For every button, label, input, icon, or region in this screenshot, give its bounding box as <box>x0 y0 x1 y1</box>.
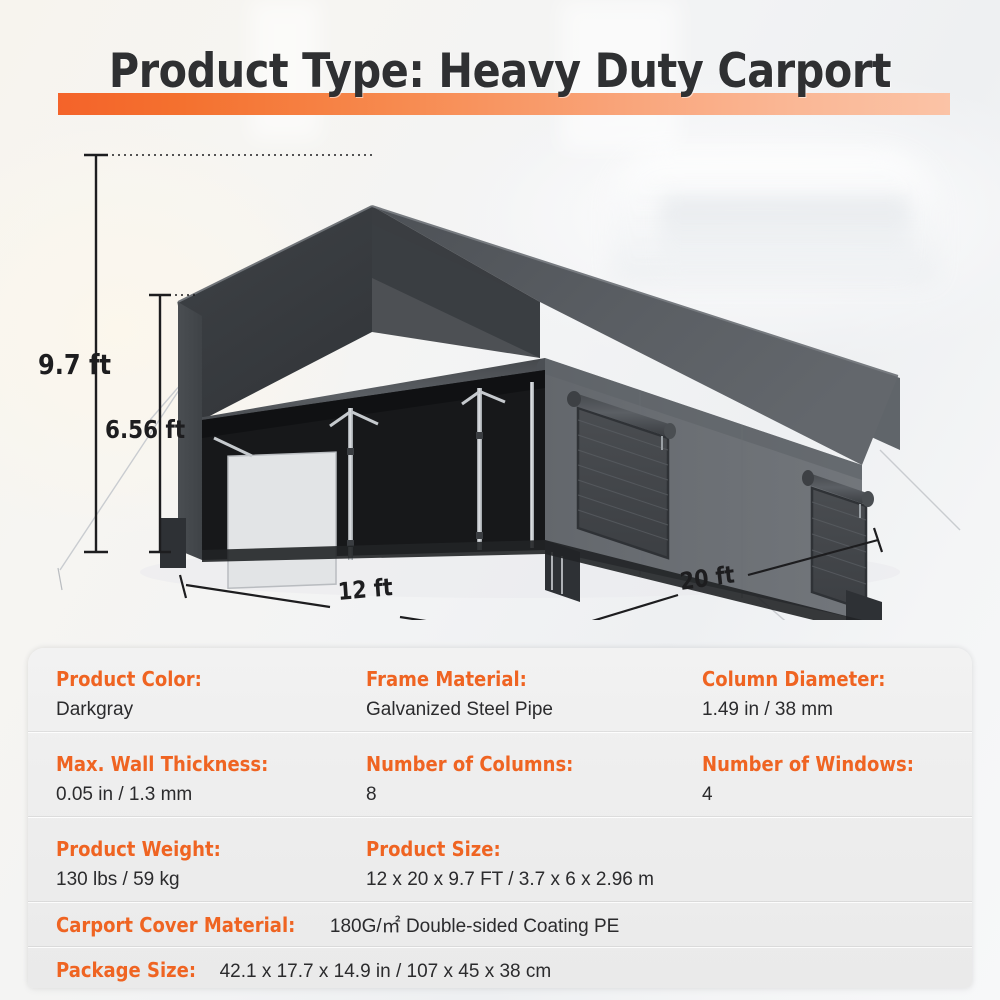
page-title: Product Type: Heavy Duty Carport <box>60 42 940 102</box>
spec-value: 180G/㎡ Double-sided Coating PE <box>330 915 619 939</box>
spec-cell-product-color: Product Color: Darkgray <box>56 648 218 722</box>
product-spec-image: Product Type: Heavy Duty Carport <box>0 0 1000 1000</box>
spec-value: 1.49 in / 38 mm <box>702 698 906 722</box>
spec-cell-number-of-windows: Number of Windows: 4 <box>702 733 938 807</box>
spec-cell-product-size: Product Size: 12 x 20 x 9.7 FT / 3.7 x 6… <box>366 818 654 892</box>
ground-stake <box>58 568 62 590</box>
spec-cell-frame-material: Frame Material: Galvanized Steel Pipe <box>366 648 553 722</box>
spec-row: Product Weight: 130 lbs / 59 kg Product … <box>28 817 972 902</box>
specification-panel: Product Color: Darkgray Frame Material: … <box>28 648 972 988</box>
interior-pole <box>348 408 353 560</box>
spec-cell-package-size: Package Size: 42.1 x 17.7 x 14.9 in / 10… <box>56 958 551 984</box>
spec-cell-carport-cover-material: Carport Cover Material: 180G/㎡ Double-si… <box>56 913 619 939</box>
spec-value: 42.1 x 17.7 x 14.9 in / 107 x 45 x 38 cm <box>220 960 552 984</box>
carport-illustration <box>0 120 1000 620</box>
spec-cell-max-wall-thickness: Max. Wall Thickness: 0.05 in / 1.3 mm <box>56 733 292 807</box>
spec-label: Frame Material: <box>366 667 534 691</box>
spec-label: Product Weight: <box>56 837 221 861</box>
spec-value: 0.05 in / 1.3 mm <box>56 783 292 807</box>
interior-pole <box>477 388 482 550</box>
roof-gable-left <box>178 206 372 420</box>
spec-row: Max. Wall Thickness: 0.05 in / 1.3 mm Nu… <box>28 732 972 817</box>
spec-value: 8 <box>366 783 596 807</box>
spec-cell-product-weight: Product Weight: 130 lbs / 59 kg <box>56 818 239 892</box>
dimension-label-height-eave: 6.56 ft <box>105 415 185 444</box>
interior-window-panel <box>228 452 336 588</box>
spec-label: Number of Columns: <box>366 752 573 776</box>
spec-label: Number of Windows: <box>702 752 914 776</box>
spec-row: Carport Cover Material: 180G/㎡ Double-si… <box>28 902 972 947</box>
spec-row: Product Color: Darkgray Frame Material: … <box>28 648 972 732</box>
spec-label: Max. Wall Thickness: <box>56 752 268 776</box>
anchor-foot <box>160 518 186 568</box>
spec-label: Column Diameter: <box>702 667 886 691</box>
spec-value: 12 x 20 x 9.7 FT / 3.7 x 6 x 2.96 m <box>366 868 654 892</box>
spec-value: Galvanized Steel Pipe <box>366 698 553 722</box>
spec-cell-number-of-columns: Number of Columns: 8 <box>366 733 596 807</box>
spec-value: Darkgray <box>56 698 218 722</box>
side-window-2 <box>802 470 874 610</box>
dimension-label-width: 12 ft <box>337 573 393 606</box>
spec-value: 130 lbs / 59 kg <box>56 868 239 892</box>
spec-row: Package Size: 42.1 x 17.7 x 14.9 in / 10… <box>28 947 972 988</box>
spec-label: Product Size: <box>366 837 625 861</box>
dimension-label-height-overall: 9.7 ft <box>38 348 111 381</box>
interior-pole <box>530 382 534 548</box>
spec-label: Package Size: <box>56 958 196 982</box>
spec-label: Product Color: <box>56 667 202 691</box>
spec-cell-column-diameter: Column Diameter: 1.49 in / 38 mm <box>702 648 906 722</box>
spec-label: Carport Cover Material: <box>56 913 295 937</box>
spec-value: 4 <box>702 783 938 807</box>
